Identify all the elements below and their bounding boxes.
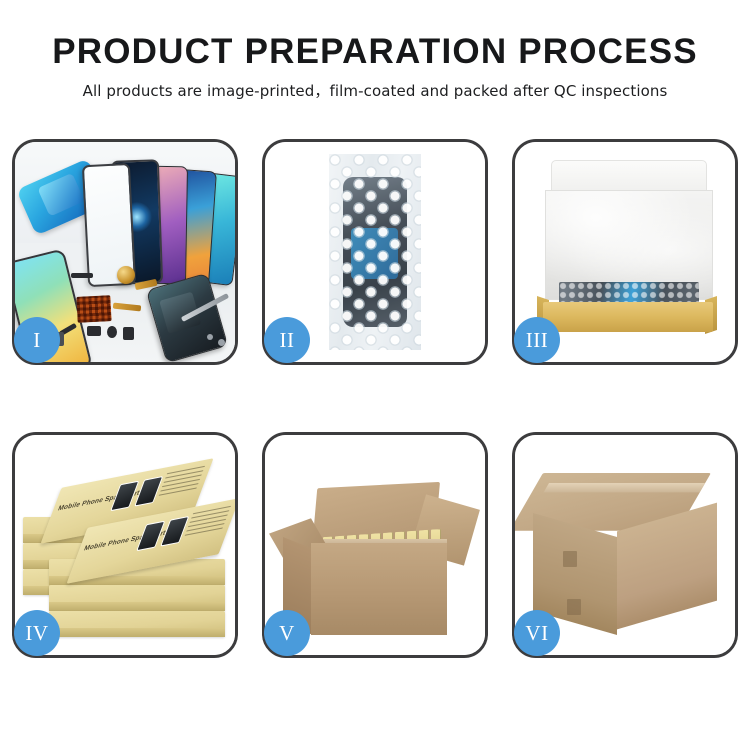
step-panel-5: V Boxes loaded into shipping carton bbox=[262, 432, 488, 658]
carton-nick bbox=[567, 599, 581, 615]
chip-part-icon bbox=[71, 273, 93, 278]
step-panel-1: I Phone LCD screens and spare parts laid… bbox=[12, 139, 238, 365]
step-panel-6: VI Shipping carton taped and ready bbox=[512, 432, 738, 658]
page-title: PRODUCT PREPARATION PROCESS bbox=[0, 34, 750, 71]
chip-part-icon bbox=[87, 326, 101, 336]
step-badge-4: IV bbox=[14, 610, 60, 656]
screw-icon bbox=[207, 334, 213, 340]
carton-front-face bbox=[311, 543, 447, 635]
vibration-motor-icon bbox=[117, 266, 135, 284]
box-spec-lines bbox=[181, 506, 231, 546]
packing-tape-strip bbox=[544, 483, 705, 492]
carton-nick bbox=[563, 551, 577, 567]
speaker-part-icon bbox=[107, 326, 117, 338]
header: PRODUCT PREPARATION PROCESS All products… bbox=[0, 0, 750, 101]
step-badge-6: VI bbox=[514, 610, 560, 656]
page-subtitle: All products are image-printed，film-coat… bbox=[0, 80, 750, 101]
open-mailer-box bbox=[535, 160, 719, 342]
process-steps-grid: I Phone LCD screens and spare parts laid… bbox=[12, 139, 738, 658]
box-spec-lines bbox=[155, 466, 205, 506]
step-badge-5: V bbox=[264, 610, 310, 656]
step-badge-3: III bbox=[514, 317, 560, 363]
retail-box bbox=[49, 611, 225, 637]
bubble-texture-front bbox=[329, 154, 421, 350]
camera-part-icon bbox=[123, 327, 134, 340]
connector-grid-icon bbox=[76, 295, 111, 323]
box-front-panel bbox=[543, 302, 713, 332]
step-badge-2: II bbox=[264, 317, 310, 363]
stacked-retail-boxes: Mobile Phone Spare Parts Mobile Phone Sp… bbox=[21, 463, 229, 635]
bubble-wrap-package bbox=[329, 154, 421, 350]
step-badge-1: I bbox=[14, 317, 60, 363]
step-panel-3: III Wrapped part placed in kraft mailer … bbox=[512, 139, 738, 365]
sealed-shipping-carton bbox=[533, 473, 723, 633]
open-shipping-carton bbox=[279, 475, 475, 635]
step-panel-4: Mobile Phone Spare Parts Mobile Phone Sp… bbox=[12, 432, 238, 658]
retail-box bbox=[49, 585, 225, 611]
step-panel-2: II Part sealed in bubble wrap bbox=[262, 139, 488, 365]
screw-icon bbox=[218, 339, 225, 346]
